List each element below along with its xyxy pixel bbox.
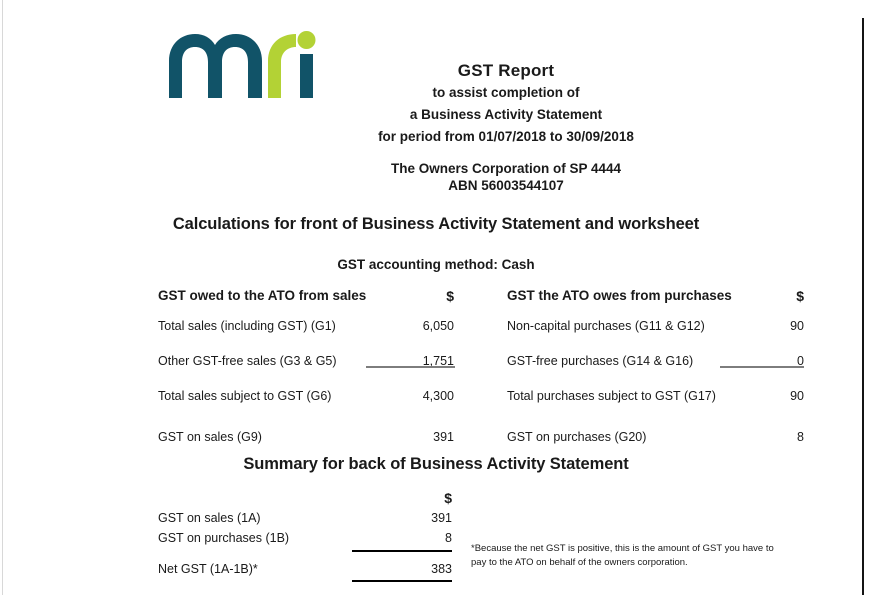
report-period: for period from 01/07/2018 to 30/09/2018 xyxy=(330,126,682,148)
sales-currency-header: $ xyxy=(446,288,454,304)
page-left-border xyxy=(2,0,3,595)
table-row: Total sales (including GST) (G1) 6,050 xyxy=(158,319,454,336)
calculations-heading: Calculations for front of Business Activ… xyxy=(0,215,872,234)
table-row: Total purchases subject to GST (G17) 90 xyxy=(507,389,804,406)
row-label: Total purchases subject to GST (G17) xyxy=(507,389,716,403)
row-label: GST on sales (G9) xyxy=(158,430,262,444)
sales-table-header: GST owed to the ATO from sales $ xyxy=(158,288,454,311)
summary-heading: Summary for back of Business Activity St… xyxy=(0,455,872,474)
table-row: GST on sales (G9) 391 xyxy=(158,430,454,447)
row-value: 391 xyxy=(433,430,454,444)
purchases-table-header: GST the ATO owes from purchases $ xyxy=(507,288,804,311)
row-label: Net GST (1A-1B)* xyxy=(158,562,258,576)
purchases-header-label: GST the ATO owes from purchases xyxy=(507,288,732,303)
sales-subtotal-rule xyxy=(366,366,455,368)
purchases-currency-header: $ xyxy=(796,288,804,304)
row-label: Other GST-free sales (G3 & G5) xyxy=(158,354,337,368)
row-value: 8 xyxy=(445,531,452,545)
organisation-name: The Owners Corporation of SP 4444 xyxy=(330,160,682,177)
mri-logo xyxy=(167,28,322,100)
page-right-border xyxy=(862,18,864,595)
row-label: GST-free purchases (G14 & G16) xyxy=(507,354,693,368)
table-row: GST on purchases (1B) 8 xyxy=(158,531,452,548)
table-row: Other GST-free sales (G3 & G5) 1,751 xyxy=(158,354,454,371)
table-row: Total sales subject to GST (G6) 4,300 xyxy=(158,389,454,406)
row-value: 90 xyxy=(790,319,804,333)
row-label: GST on sales (1A) xyxy=(158,511,261,525)
report-subtitle-line-1: to assist completion of xyxy=(330,82,682,104)
gst-report-page: GST Report to assist completion of a Bus… xyxy=(0,0,872,595)
table-row: Net GST (1A-1B)* 383 xyxy=(158,562,452,579)
row-label: GST on purchases (1B) xyxy=(158,531,289,545)
table-row: Non-capital purchases (G11 & G12) 90 xyxy=(507,319,804,336)
sales-header-label: GST owed to the ATO from sales xyxy=(158,288,366,303)
report-header: GST Report to assist completion of a Bus… xyxy=(330,60,682,194)
report-title: GST Report xyxy=(330,60,682,82)
net-gst-footnote: *Because the net GST is positive, this i… xyxy=(471,542,786,570)
summary-currency-header-wrap: $ xyxy=(158,490,452,508)
purchases-subtotal-rule xyxy=(720,366,804,368)
row-value: 383 xyxy=(431,562,452,576)
row-value: 6,050 xyxy=(423,319,454,333)
table-row: GST-free purchases (G14 & G16) 0 xyxy=(507,354,804,371)
accounting-method-label: GST accounting method: Cash xyxy=(0,257,872,272)
row-label: Total sales (including GST) (G1) xyxy=(158,319,336,333)
mri-logo-icon xyxy=(167,28,322,100)
row-value: 8 xyxy=(797,430,804,444)
row-value: 90 xyxy=(790,389,804,403)
table-row: GST on purchases (G20) 8 xyxy=(507,430,804,447)
row-value: 4,300 xyxy=(423,389,454,403)
report-subtitle-line-2: a Business Activity Statement xyxy=(330,104,682,126)
row-value: 391 xyxy=(431,511,452,525)
summary-currency-header: $ xyxy=(444,490,452,506)
row-label: GST on purchases (G20) xyxy=(507,430,646,444)
table-row: GST on sales (1A) 391 xyxy=(158,511,452,528)
row-label: Total sales subject to GST (G6) xyxy=(158,389,331,403)
net-gst-bottom-rule xyxy=(352,580,452,582)
row-label: Non-capital purchases (G11 & G12) xyxy=(507,319,705,333)
net-gst-top-rule xyxy=(352,550,452,552)
summary-table: $ GST on sales (1A) 391 GST on purchases… xyxy=(158,490,452,579)
organisation-abn: ABN 56003544107 xyxy=(330,177,682,194)
